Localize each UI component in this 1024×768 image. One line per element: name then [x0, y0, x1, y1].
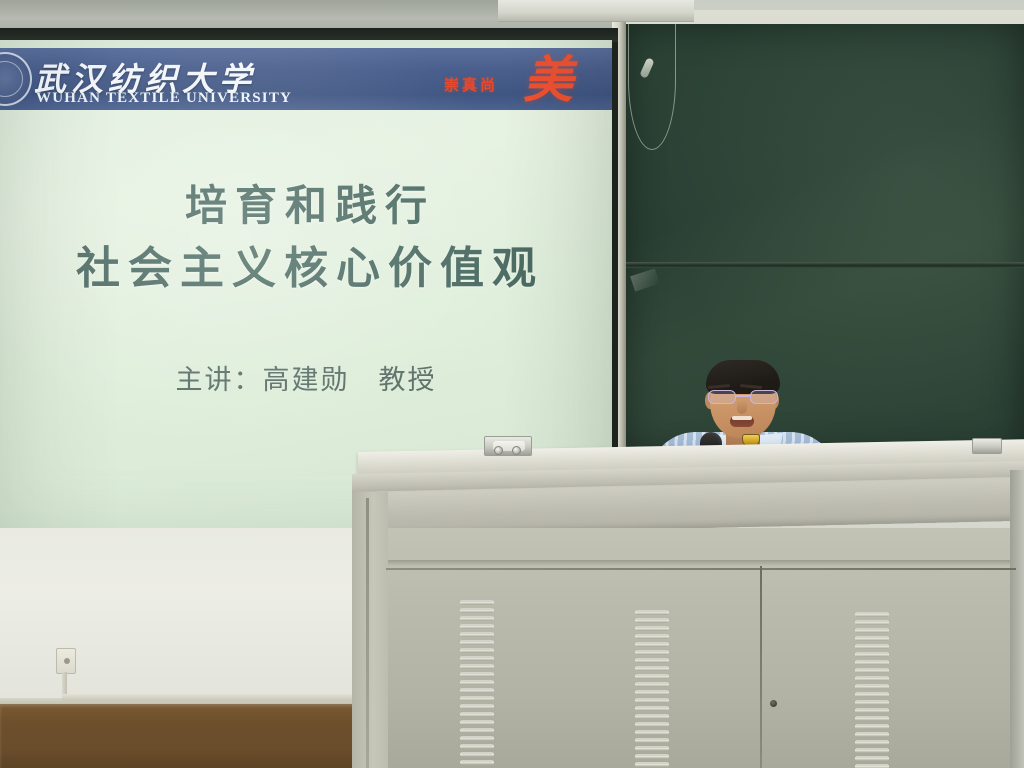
slide-title-line-2: 社会主义核心价值观 — [0, 232, 612, 296]
wood-wainscot-panel — [0, 704, 372, 768]
wall-conduit-horizontal — [62, 694, 372, 701]
slide-header-banner: 武汉纺织大学 WUHAN TEXTILE UNIVERSITY 崇真尚 美 — [0, 48, 612, 110]
university-name-en: WUHAN TEXTILE UNIVERSITY — [36, 90, 292, 107]
slide-title-line-1: 培育和践行 — [0, 172, 612, 233]
lectern-left-edge — [366, 498, 369, 768]
university-seal-icon — [0, 52, 32, 106]
cabinet-door-seam — [760, 566, 762, 768]
chalkboard-rail — [624, 262, 1024, 268]
university-motto-big: 美 — [523, 54, 573, 106]
lower-white-wall — [0, 520, 384, 708]
glasses-lens-right — [750, 390, 778, 404]
lecture-hall-photo: ThreeStars 武汉纺织大学 WUHAN TEXTILE UNIVERSI… — [0, 0, 1024, 768]
slide-speaker-subtitle: 主讲：高建勋 教授 — [56, 358, 556, 397]
lectern-bracket-right — [972, 438, 1002, 454]
glasses-bridge — [736, 395, 750, 397]
wall-outlet[interactable] — [56, 648, 76, 674]
bracket-hole-a — [494, 446, 503, 455]
cabinet-keyhole[interactable] — [770, 700, 777, 707]
bracket-hole-b — [512, 446, 521, 455]
cabinet-vent-group-2 — [635, 610, 669, 768]
cabinet-vent-group-1 — [460, 600, 494, 768]
lectern-left-side-panel — [352, 492, 388, 768]
lectern-bracket-left — [484, 436, 532, 456]
university-motto-small: 崇真尚 — [444, 74, 498, 95]
projector-screen-case: ThreeStars — [498, 0, 694, 22]
room-right-frame — [1010, 470, 1024, 768]
speaker-nose — [737, 400, 747, 414]
cabinet-vent-group-3 — [855, 612, 889, 768]
speaker-teeth — [732, 416, 752, 420]
speaker-hair — [706, 360, 780, 394]
glasses-lens-left — [708, 390, 736, 404]
cabinet-seam-top — [386, 568, 1016, 570]
lectern-cabinet-shadow — [372, 560, 1024, 566]
